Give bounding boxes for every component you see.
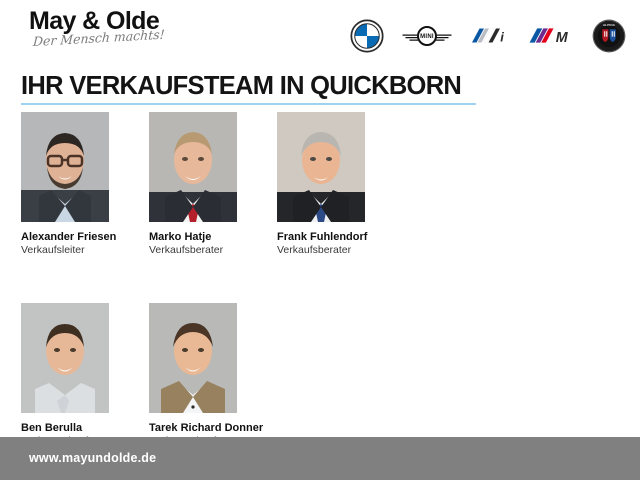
mini-logo: MINI (402, 23, 452, 49)
member-role: Verkaufsleiter (21, 244, 149, 257)
svg-text:ALPINA: ALPINA (603, 23, 616, 27)
company-logo[interactable]: May & Olde Der Mensch machts! (29, 8, 249, 49)
svg-text:MINI: MINI (420, 34, 434, 40)
team-member: Ben Berulla Junior Verkäufer (21, 303, 149, 448)
alpina-logo: ALPINA (592, 19, 626, 53)
footer: www.mayundolde.de (0, 437, 640, 480)
team-row: Ben Berulla Junior Verkäufer (21, 303, 621, 448)
member-role: Verkaufsberater (149, 244, 277, 257)
svg-text:i: i (500, 30, 504, 45)
page-title: IHR VERKAUFSTEAM IN QUICKBORN (21, 72, 476, 100)
bmw-m-logo: M (528, 25, 574, 47)
avatar (149, 112, 237, 222)
member-name: Alexander Friesen (21, 231, 149, 244)
team-member: Alexander Friesen Verkaufsleiter (21, 112, 149, 257)
team-member: Marko Hatje Verkaufsberater (149, 112, 277, 257)
member-name: Marko Hatje (149, 231, 277, 244)
footer-website-url[interactable]: www.mayundolde.de (29, 451, 156, 465)
team-member: Tarek Richard Donner Junior Verkäufer (149, 303, 277, 448)
bmw-logo (350, 19, 384, 53)
page-title-block: IHR VERKAUFSTEAM IN QUICKBORN (21, 72, 476, 105)
slide: May & Olde Der Mensch machts! (0, 0, 640, 480)
header: May & Olde Der Mensch machts! (0, 0, 640, 64)
avatar (21, 112, 109, 222)
svg-text:M: M (556, 30, 569, 46)
brand-logo-bar: MINI i (350, 16, 626, 56)
bmw-i-logo: i (470, 25, 510, 47)
member-name: Ben Berulla (21, 422, 149, 435)
avatar (21, 303, 109, 413)
avatar (277, 112, 365, 222)
member-name: Frank Fuhlendorf (277, 231, 405, 244)
avatar (149, 303, 237, 413)
title-underline (21, 103, 476, 105)
team-row: Alexander Friesen Verkaufsleiter (21, 112, 621, 257)
member-role: Verkaufsberater (277, 244, 405, 257)
team-member: Frank Fuhlendorf Verkaufsberater (277, 112, 405, 257)
team-grid: Alexander Friesen Verkaufsleiter (21, 112, 621, 448)
member-name: Tarek Richard Donner (149, 422, 277, 435)
